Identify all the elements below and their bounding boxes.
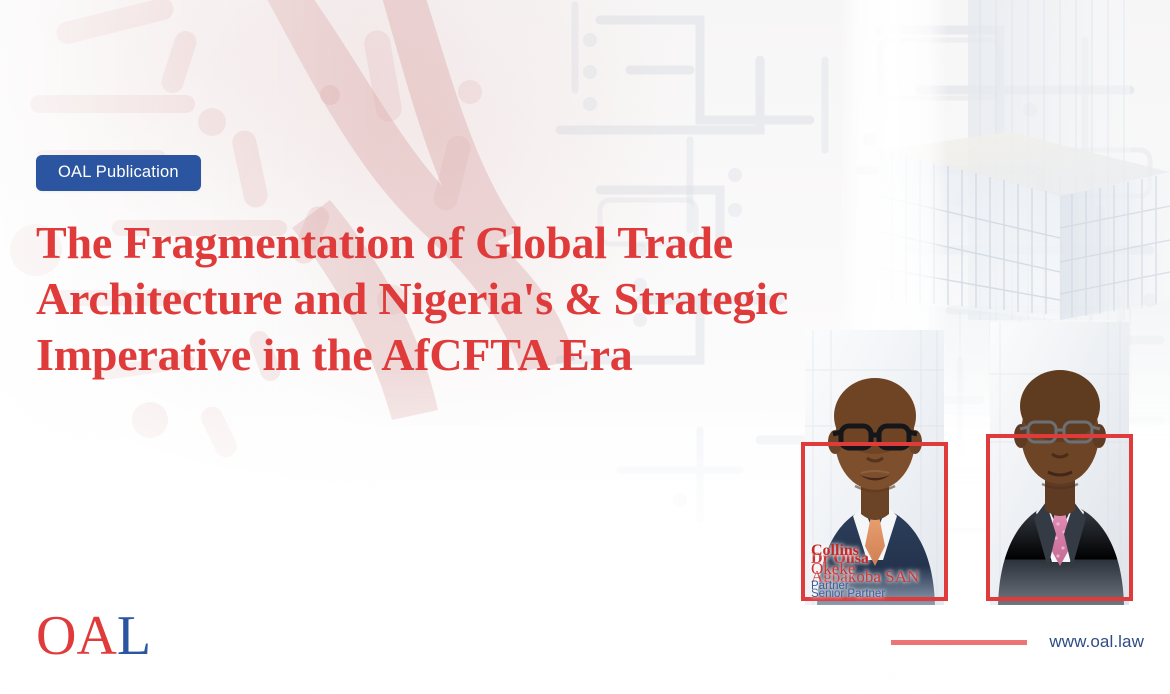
publication-banner: OAL Publication The Fragmentation of Glo… <box>0 0 1170 694</box>
logo-text-blue: L <box>117 605 151 667</box>
profile-caption-2: Collins Okeke Partner <box>811 542 859 594</box>
page-title: The Fragmentation of Global Trade Archit… <box>36 215 846 383</box>
profile-role: Partner <box>811 579 859 593</box>
profile-frame-2 <box>986 434 1133 601</box>
footer-url-group: www.oal.law <box>891 632 1144 652</box>
logo-text-red: OA <box>36 605 117 667</box>
oal-logo: OAL <box>36 608 151 664</box>
website-url[interactable]: www.oal.law <box>1049 632 1144 652</box>
footer-divider-rule <box>891 640 1027 645</box>
publication-badge: OAL Publication <box>36 155 201 191</box>
profiles-group: Dr Olisa Agbakoba SAN Senior Partner Col… <box>801 380 1141 610</box>
profile-last-name: Okeke <box>811 559 859 578</box>
profile-first-name: Collins <box>811 542 859 559</box>
